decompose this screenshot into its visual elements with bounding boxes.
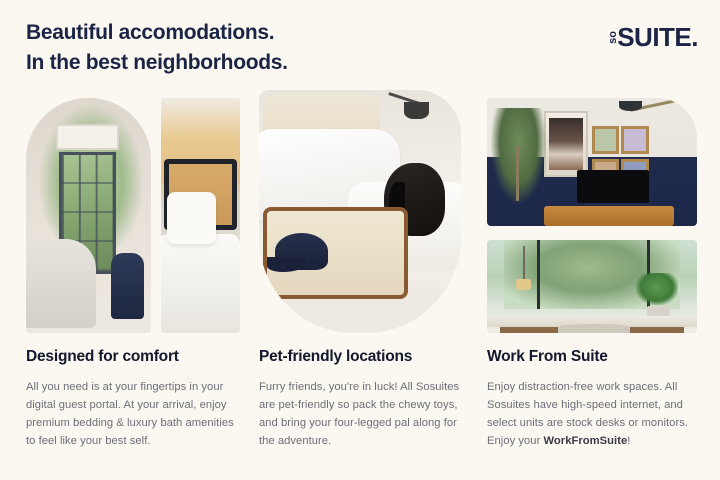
feature-body-text-end: ! [627,435,630,447]
image-bedroom-detail [161,98,240,333]
wooden-console [544,206,674,226]
headline-line-2: In the best neighborhoods. [26,48,288,78]
pendant-bulb [516,279,531,290]
gallery-frame-1 [592,126,619,154]
feature-column-comfort: Designed for comfort All you need is at … [26,348,241,451]
media-grid [0,88,720,336]
image-navy-living-room-tv [487,98,697,226]
television [577,170,648,203]
sofa [26,239,96,328]
accent-chair [111,253,144,319]
feature-body-pet-friendly: Furry friends, you're in luck! All Sosui… [259,378,461,451]
scene-living-room [26,98,151,333]
gallery-frame-2 [621,126,648,154]
bed-linens [161,234,240,333]
pillow [167,192,216,244]
image-window-desk-workspace [487,240,697,333]
sosuite-cap [275,233,328,269]
transom-window [56,124,119,150]
desk-chair [558,324,629,333]
feature-body-comfort: All you need is at your fingertips in yo… [26,378,241,451]
portrait-artwork [544,111,588,178]
feature-heading-work-from-suite: Work From Suite [487,348,697,366]
logo-prefix: so [608,31,619,44]
pendant-cord [523,246,525,281]
image-arched-doorway-living-room [26,98,151,333]
wall-lamp-shade [404,102,428,119]
scene-pet-suitcase [259,90,461,333]
image-pet-friendly-suitcase-dog [259,90,461,333]
scene-window-desk [487,240,697,333]
scene-navy-living-room [487,98,697,226]
logo-wordmark: SUITE. [617,24,698,50]
feature-heading-comfort: Designed for comfort [26,348,241,366]
page-title: Beautiful accomodations. In the best nei… [26,18,288,78]
brand-logo[interactable]: so SUITE. [611,24,698,50]
olive-tree [491,108,546,203]
feature-columns: Designed for comfort All you need is at … [0,348,720,478]
feature-body-work-from-suite: Enjoy distraction-free work spaces. All … [487,378,697,451]
scene-bedroom [161,98,240,333]
promo-page: Beautiful accomodations. In the best nei… [0,0,720,480]
work-from-suite-emphasis: WorkFromSuite [544,435,628,447]
feature-column-pet-friendly: Pet-friendly locations Furry friends, yo… [259,348,461,451]
feature-column-work-from-suite: Work From Suite Enjoy distraction-free w… [487,348,697,451]
window-mullion-left [537,240,540,309]
potted-plant-leaves [636,273,678,305]
swing-lamp-shade [619,101,642,111]
feature-heading-pet-friendly: Pet-friendly locations [259,348,461,366]
headline-line-1: Beautiful accomodations. [26,18,288,48]
